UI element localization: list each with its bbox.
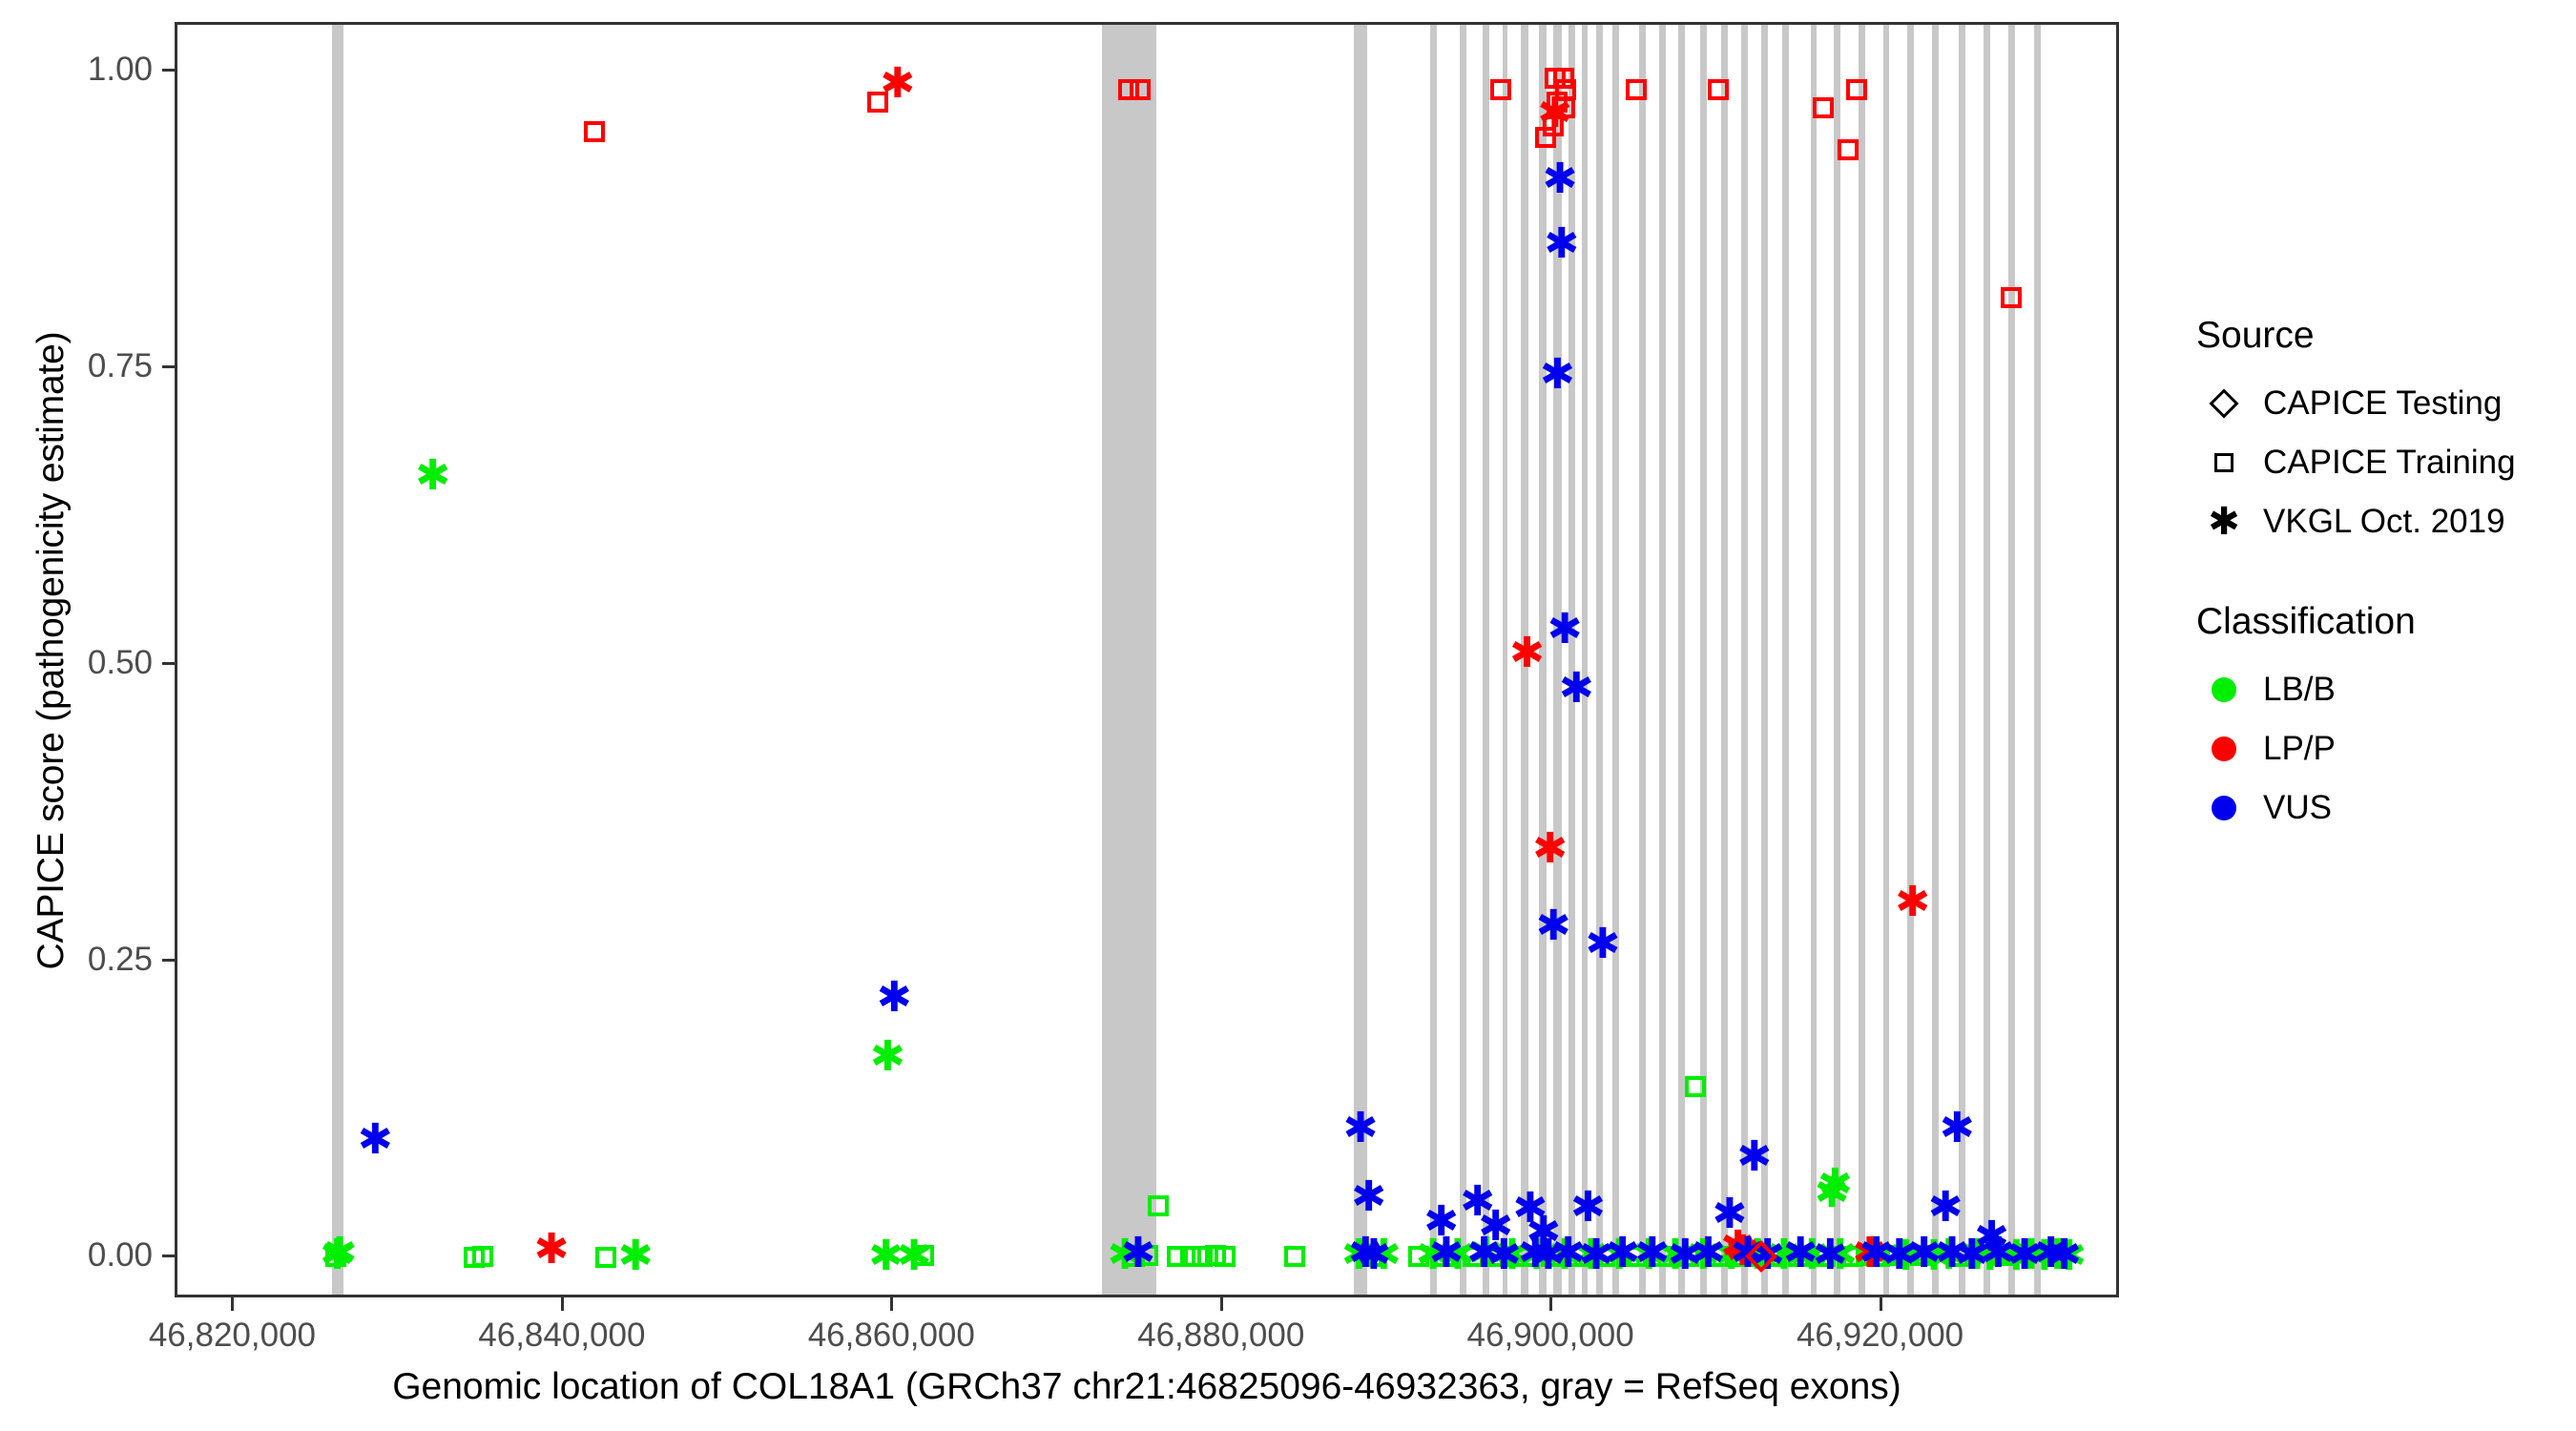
x-tick-label: 46,840,000 bbox=[419, 1317, 705, 1355]
data-point bbox=[1535, 127, 1556, 148]
y-tick-mark bbox=[162, 662, 175, 665]
data-point bbox=[1685, 1076, 1706, 1097]
legend-label: VKGL Oct. 2019 bbox=[2263, 503, 2505, 541]
exon-bar bbox=[332, 25, 343, 1295]
legend: Source CAPICE TestingCAPICE Training✱VKG… bbox=[2194, 315, 2576, 887]
data-point: ✱ bbox=[1813, 1234, 1848, 1276]
data-point: ✱ bbox=[1532, 828, 1568, 870]
legend-item-source[interactable]: CAPICE Training bbox=[2194, 433, 2576, 492]
data-point bbox=[1130, 79, 1151, 100]
legend-group-source: Source CAPICE TestingCAPICE Training✱VKG… bbox=[2194, 315, 2576, 551]
data-point: ✱ bbox=[1586, 923, 1621, 965]
exon-bar bbox=[1741, 25, 1748, 1295]
legend-item-classification[interactable]: VUS bbox=[2194, 778, 2576, 838]
legend-key-dot bbox=[2194, 778, 2254, 838]
legend-label: CAPICE Training bbox=[2263, 444, 2516, 482]
data-point: ✱ bbox=[1536, 905, 1571, 947]
exon-bar bbox=[1612, 25, 1619, 1295]
diamond-icon bbox=[2209, 388, 2238, 418]
data-point: ✱ bbox=[880, 63, 915, 105]
data-point: ✱ bbox=[1540, 354, 1575, 396]
plot-panel: ✱✱✱✱✱✱✱✱✱✱✱✱✱✱✱✱✱✱✱✱✱✱✱✱✱✱✱✱✱✱✱✱✱✱✱✱✱✱✱✱… bbox=[175, 22, 2119, 1297]
square-icon bbox=[2214, 453, 2233, 472]
data-point: ✱ bbox=[358, 1119, 393, 1161]
data-point: ✱ bbox=[870, 1036, 905, 1078]
x-tick-mark bbox=[1220, 1297, 1223, 1311]
x-axis-title: Genomic location of COL18A1 (GRCh37 chr2… bbox=[175, 1366, 2119, 1408]
exon-bar bbox=[2008, 25, 2015, 1295]
data-point bbox=[1708, 79, 1729, 100]
exon-bar bbox=[1700, 25, 1707, 1295]
data-point: ✱ bbox=[1543, 158, 1578, 200]
data-point: ✱ bbox=[1548, 609, 1583, 651]
data-point: ✱ bbox=[1691, 1233, 1726, 1275]
circle-icon bbox=[2212, 677, 2236, 702]
data-point: ✱ bbox=[415, 455, 450, 497]
x-tick-label: 46,900,000 bbox=[1407, 1317, 1693, 1355]
y-tick-label: 0.75 bbox=[38, 347, 153, 385]
exon-bar bbox=[1568, 25, 1575, 1295]
exon-bar bbox=[1430, 25, 1437, 1295]
data-point: ✱ bbox=[1815, 1172, 1850, 1214]
x-tick-label: 46,820,000 bbox=[89, 1317, 375, 1355]
legend-item-classification[interactable]: LB/B bbox=[2194, 660, 2576, 719]
circle-icon bbox=[2212, 796, 2236, 820]
data-point: ✱ bbox=[1343, 1108, 1379, 1150]
legend-label: LP/P bbox=[2263, 730, 2336, 768]
legend-label: CAPICE Testing bbox=[2263, 384, 2502, 423]
exon-bar bbox=[1553, 25, 1562, 1295]
legend-item-source[interactable]: ✱VKGL Oct. 2019 bbox=[2194, 492, 2576, 551]
exon-bar bbox=[1859, 25, 1865, 1295]
exon-bar bbox=[1582, 25, 1589, 1295]
legend-label: VUS bbox=[2263, 789, 2332, 827]
legend-item-source[interactable]: CAPICE Testing bbox=[2194, 374, 2576, 433]
data-point: ✱ bbox=[1544, 223, 1579, 265]
exon-bar bbox=[1932, 25, 1939, 1295]
exon-bar bbox=[1984, 25, 1990, 1295]
exon-bar bbox=[1721, 25, 1728, 1295]
data-point bbox=[1490, 79, 1511, 100]
exon-bar bbox=[1834, 25, 1840, 1295]
exon-bar bbox=[1811, 25, 1818, 1295]
circle-icon bbox=[2212, 736, 2236, 761]
data-point: ✱ bbox=[1928, 1187, 1963, 1229]
exon-bar bbox=[1883, 25, 1890, 1295]
data-point: ✱ bbox=[322, 1233, 358, 1275]
legend-key-asterisk: ✱ bbox=[2194, 492, 2254, 551]
data-point: ✱ bbox=[1120, 1233, 1155, 1275]
data-point: ✱ bbox=[618, 1235, 654, 1277]
exon-bar bbox=[1782, 25, 1789, 1295]
data-point: ✱ bbox=[1428, 1233, 1464, 1275]
chart-figure: CAPICE score (pathogenicity estimate) 0.… bbox=[0, 0, 2576, 1431]
exon-bar bbox=[2034, 25, 2041, 1295]
exon-bar bbox=[1483, 25, 1489, 1295]
exon-bar bbox=[1659, 25, 1666, 1295]
data-point: ✱ bbox=[1634, 1233, 1670, 1275]
legend-key-dot bbox=[2194, 719, 2254, 778]
y-tick-mark bbox=[162, 959, 175, 962]
data-point bbox=[913, 1245, 934, 1266]
legend-key-dot bbox=[2194, 660, 2254, 719]
plot-area: ✱✱✱✱✱✱✱✱✱✱✱✱✱✱✱✱✱✱✱✱✱✱✱✱✱✱✱✱✱✱✱✱✱✱✱✱✱✱✱✱… bbox=[177, 25, 2116, 1295]
data-point bbox=[595, 1247, 616, 1268]
data-point: ✱ bbox=[877, 977, 912, 1019]
data-point bbox=[2001, 287, 2022, 308]
legend-title-source: Source bbox=[2196, 315, 2576, 357]
y-tick-mark bbox=[162, 1255, 175, 1257]
legend-label: LB/B bbox=[2263, 671, 2336, 709]
data-point: ✱ bbox=[1559, 668, 1594, 710]
legend-item-classification[interactable]: LP/P bbox=[2194, 719, 2576, 778]
data-point: ✱ bbox=[2046, 1234, 2082, 1276]
x-tick-label: 46,860,000 bbox=[748, 1317, 1034, 1355]
exon-bar bbox=[1907, 25, 1914, 1295]
exon-bar bbox=[1639, 25, 1646, 1295]
data-point: ✱ bbox=[1736, 1136, 1772, 1178]
exon-bar bbox=[1596, 25, 1603, 1295]
data-point: ✱ bbox=[1351, 1176, 1386, 1218]
data-point: ✱ bbox=[1940, 1108, 1975, 1150]
legend-title-classification: Classification bbox=[2196, 601, 2576, 643]
data-point: ✱ bbox=[534, 1229, 570, 1271]
x-tick-mark bbox=[1880, 1297, 1882, 1311]
asterisk-icon: ✱ bbox=[2208, 503, 2240, 541]
data-point bbox=[1148, 1195, 1169, 1216]
data-point bbox=[1284, 1246, 1305, 1267]
y-tick-label: 0.50 bbox=[38, 644, 153, 682]
data-point: ✱ bbox=[1895, 881, 1930, 923]
x-tick-label: 46,880,000 bbox=[1078, 1317, 1364, 1355]
exon-bar bbox=[1678, 25, 1685, 1295]
data-point: ✱ bbox=[1356, 1234, 1391, 1276]
x-tick-mark bbox=[890, 1297, 893, 1311]
y-tick-label: 0.00 bbox=[38, 1236, 153, 1275]
data-point bbox=[1846, 79, 1867, 100]
y-tick-mark bbox=[162, 365, 175, 368]
exon-bar bbox=[1460, 25, 1466, 1295]
y-tick-label: 0.25 bbox=[38, 941, 153, 979]
data-point bbox=[472, 1246, 493, 1267]
legend-key-square bbox=[2194, 433, 2254, 492]
x-tick-mark bbox=[231, 1297, 234, 1311]
legend-group-classification: Classification LB/BLP/PVUS bbox=[2194, 601, 2576, 838]
x-tick-mark bbox=[561, 1297, 564, 1311]
y-tick-mark bbox=[162, 69, 175, 72]
x-tick-mark bbox=[1549, 1297, 1552, 1311]
data-point: ✱ bbox=[1486, 1234, 1522, 1276]
data-point bbox=[584, 121, 605, 142]
data-point bbox=[1838, 139, 1859, 160]
exon-bar bbox=[1102, 25, 1156, 1295]
exon-bar bbox=[1503, 25, 1507, 1295]
legend-key-diamond bbox=[2194, 374, 2254, 433]
data-point bbox=[1626, 79, 1647, 100]
data-point: ✱ bbox=[1509, 633, 1545, 674]
exon-bar bbox=[1761, 25, 1768, 1295]
x-tick-label: 46,920,000 bbox=[1737, 1317, 2024, 1355]
data-point: ✱ bbox=[1570, 1187, 1606, 1229]
data-point bbox=[1215, 1246, 1236, 1267]
data-point bbox=[1813, 97, 1834, 118]
y-tick-label: 1.00 bbox=[38, 51, 153, 89]
